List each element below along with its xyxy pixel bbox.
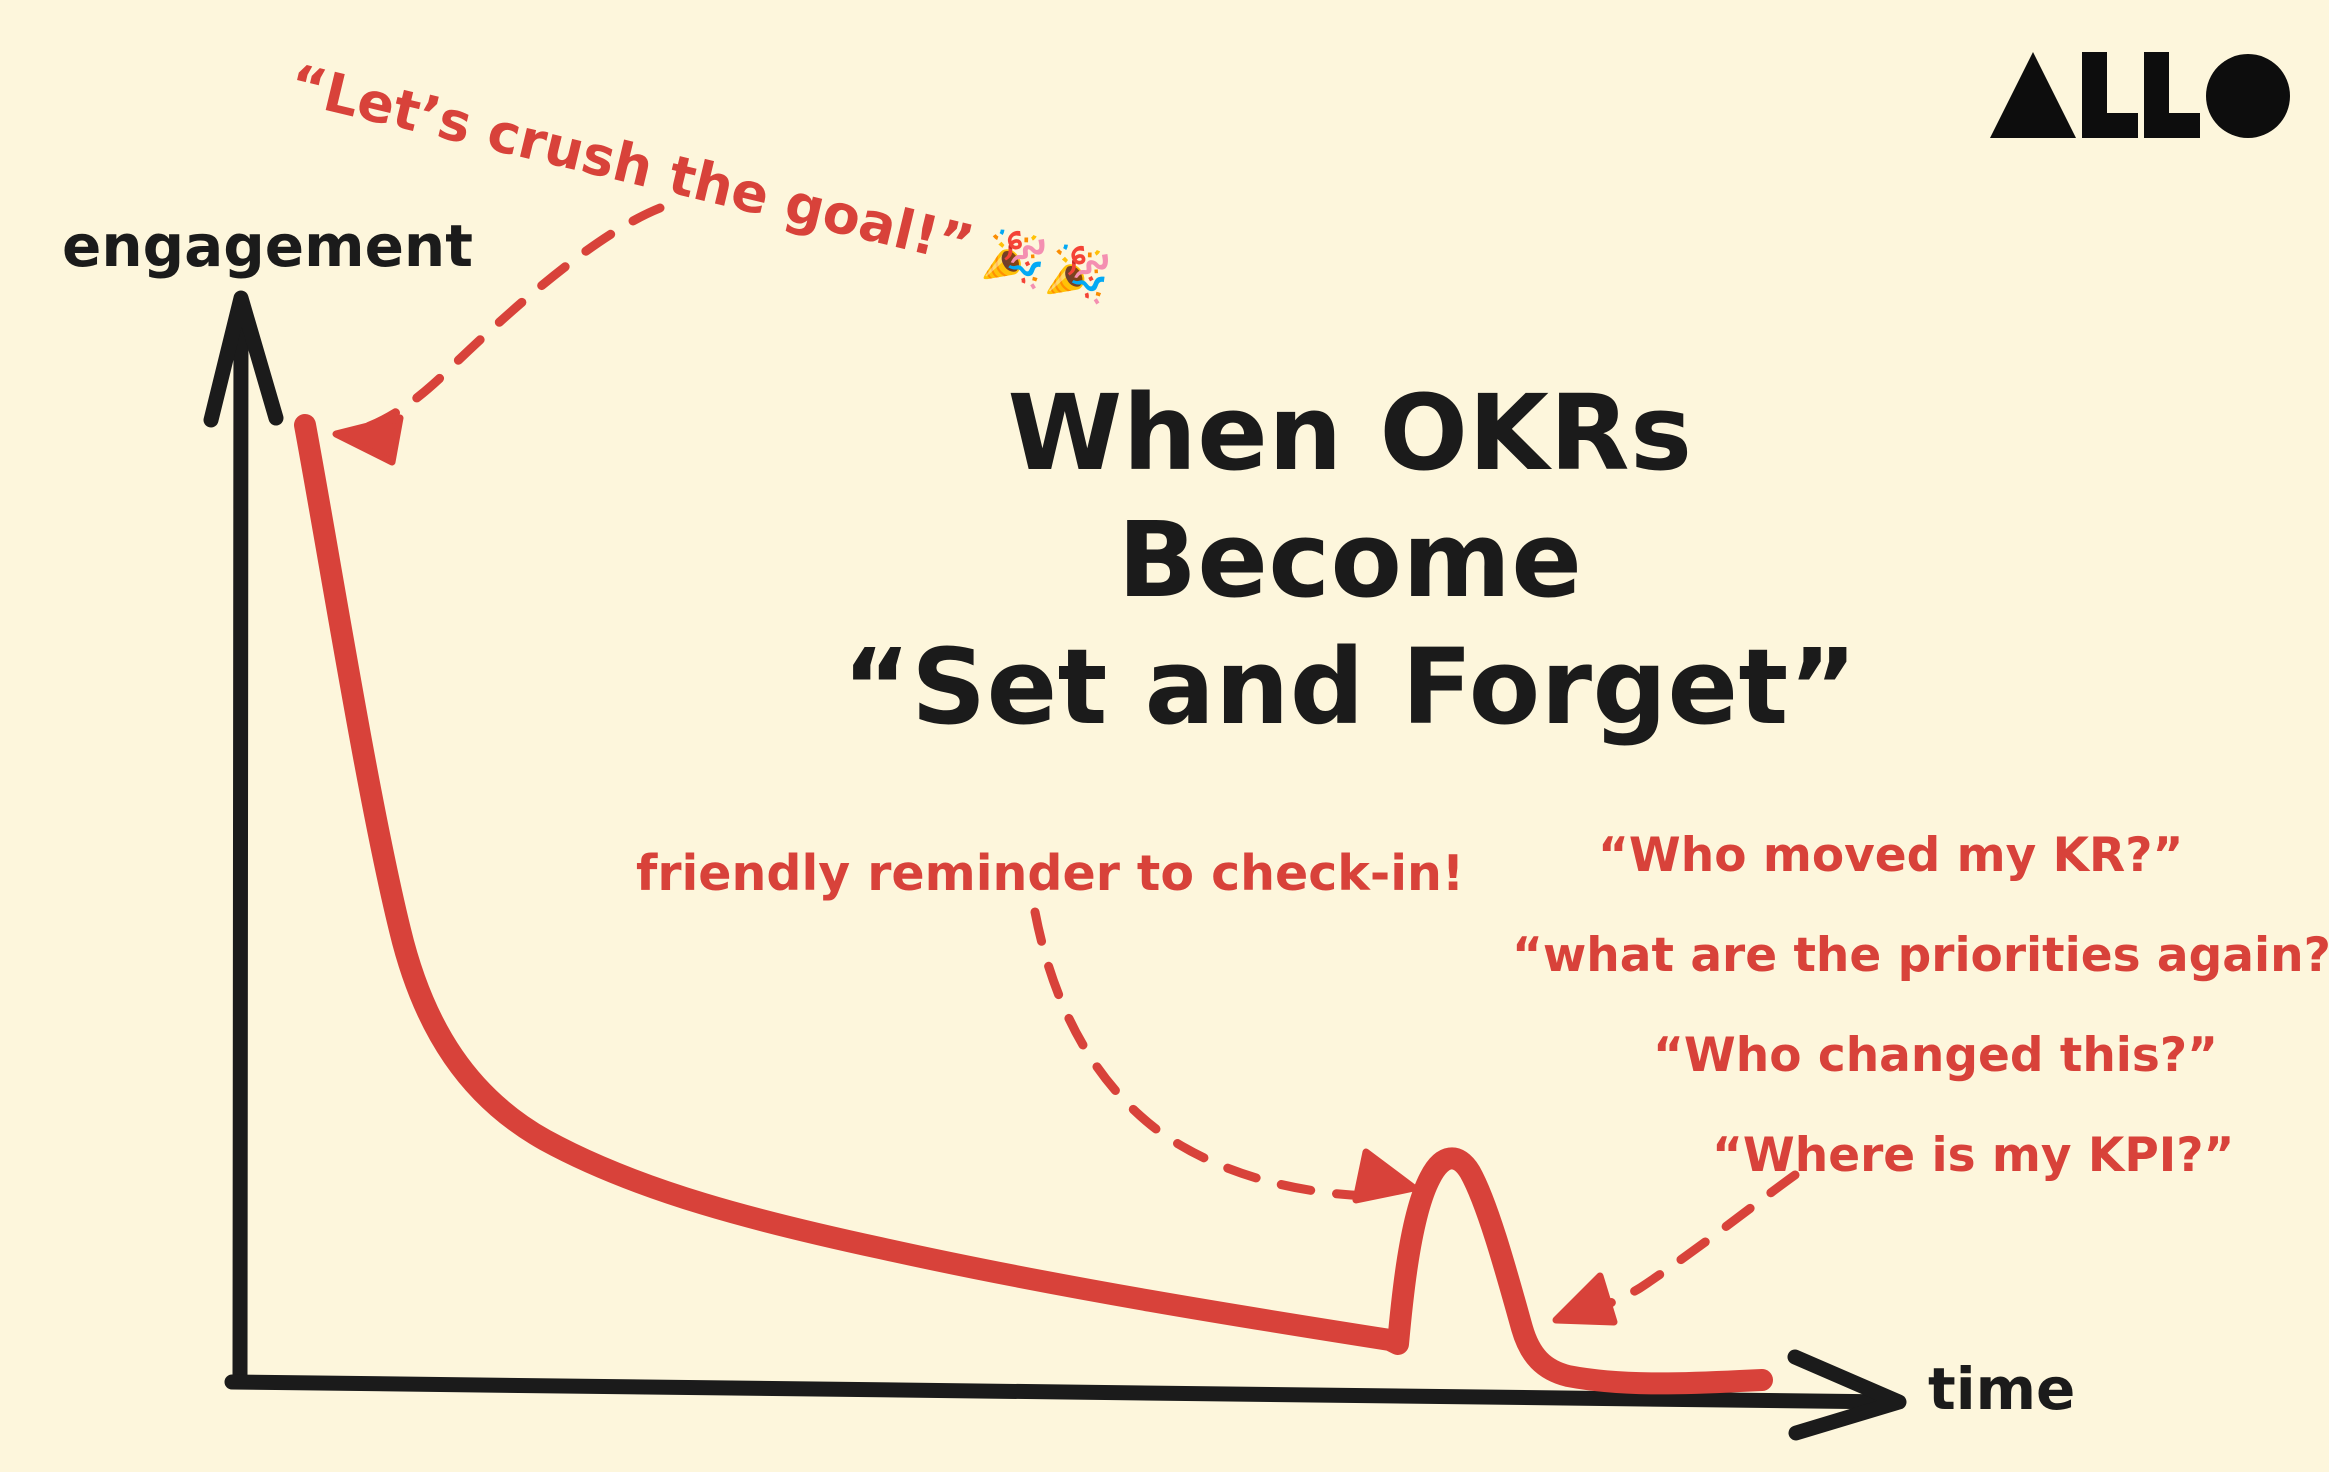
title-line-1: When OKRs Become <box>760 370 1940 624</box>
annotation-quote-2: “what are the priorities again?” <box>1512 928 2329 983</box>
annotation-quote-1: “Who moved my KR?” <box>1598 828 2183 883</box>
title-line-2: “Set and Forget” <box>760 624 1940 751</box>
allo-logo[interactable]: ALLO <box>1990 42 2290 138</box>
infographic-canvas: ALLO When OKRs Become “Set and Forget” e… <box>0 0 2329 1472</box>
logo-triangle-a-icon <box>1990 52 2076 138</box>
callout-arrow-start-head <box>336 418 400 462</box>
page-title: When OKRs Become “Set and Forget” <box>760 370 1940 751</box>
callout-arrow-kpi-line <box>1580 1175 1795 1313</box>
callout-arrow-kpi-head <box>1556 1276 1614 1322</box>
annotation-quote-4: “Where is my KPI?” <box>1712 1128 2234 1183</box>
annotation-mid-callout: friendly reminder to check-in! <box>636 845 1464 902</box>
logo-circle-o-icon <box>2206 54 2290 138</box>
y-axis-line <box>240 300 241 1378</box>
x-axis-label: time <box>1928 1355 2075 1423</box>
logo-letter-l-first <box>2082 52 2138 138</box>
annotation-quote-3: “Who changed this?” <box>1653 1028 2218 1083</box>
logo-letter-l-second <box>2144 52 2200 138</box>
callout-arrow-reminder-line <box>1035 912 1380 1196</box>
callout-arrow-reminder-head <box>1356 1152 1414 1200</box>
y-axis-label: engagement <box>62 212 473 280</box>
